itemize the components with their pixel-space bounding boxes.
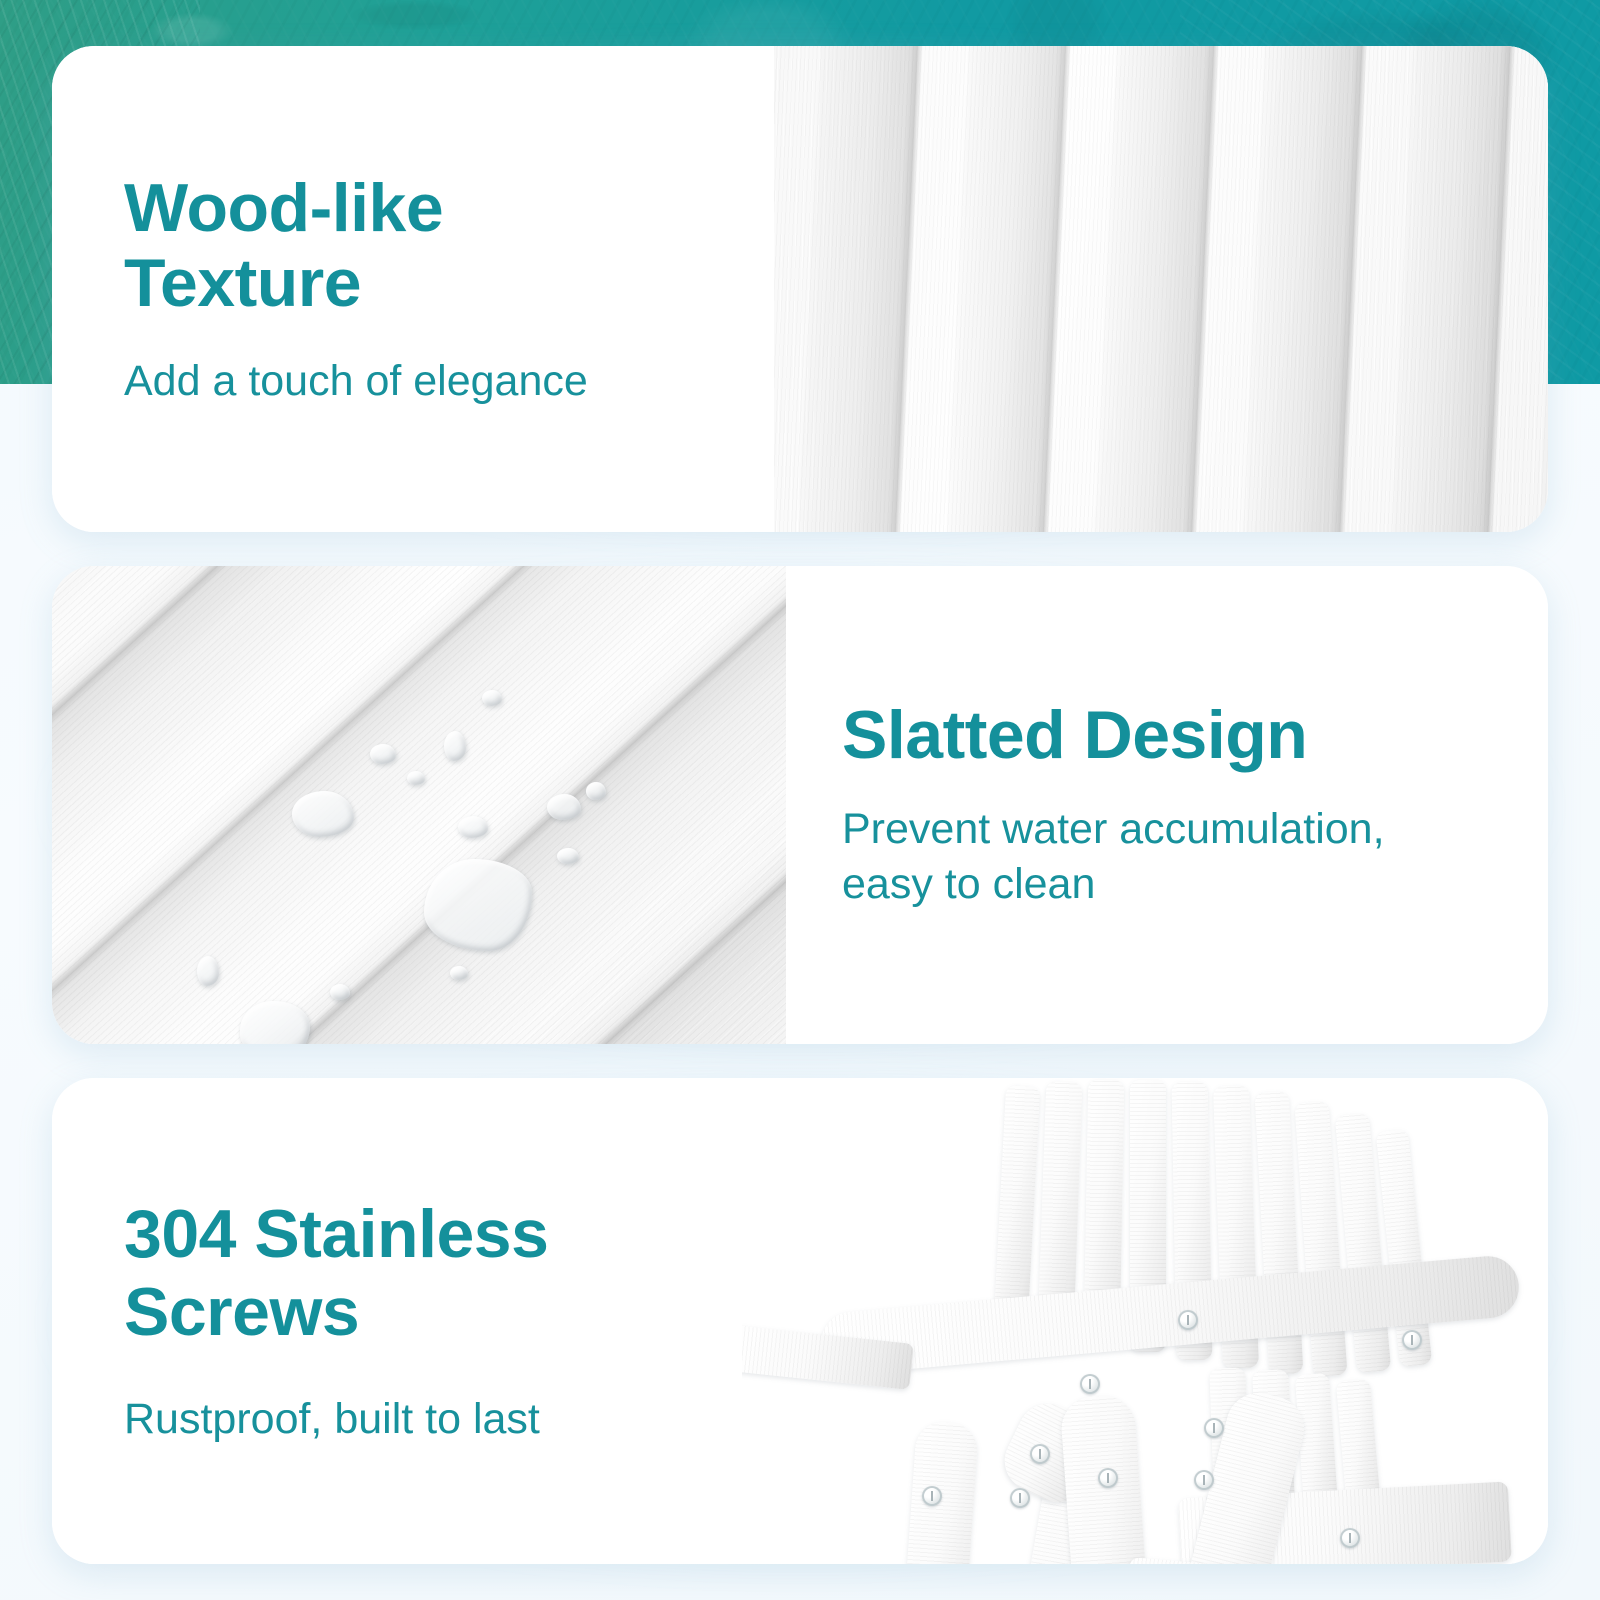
headline-line-1: Wood-like [124, 170, 443, 246]
subline-line-2: easy to clean [842, 860, 1095, 908]
water-droplet-large [424, 859, 532, 951]
water-droplet [557, 848, 579, 864]
card-media-folding-chair [742, 1078, 1548, 1564]
water-droplet [458, 816, 488, 838]
card-subline: Prevent water accumulation,easy to clean [842, 802, 1488, 912]
water-droplet [370, 744, 396, 764]
feature-card-304-stainless-screws[interactable]: 304 StainlessScrews Rustproof, built to … [52, 1078, 1548, 1564]
water-droplet [444, 731, 466, 761]
card-text-pane: Slatted Design Prevent water accumulatio… [786, 566, 1548, 1044]
water-droplet [482, 690, 502, 706]
subline-line-1: Prevent water accumulation, [842, 805, 1385, 853]
water-droplet [407, 771, 425, 785]
card-text-pane: 304 StainlessScrews Rustproof, built to … [52, 1078, 742, 1564]
water-droplet [547, 794, 581, 820]
card-subline: Rustproof, built to last [124, 1393, 702, 1445]
vertical-slats-texture [774, 46, 1548, 532]
screw-icon [1030, 1444, 1050, 1464]
screw-icon [922, 1486, 942, 1506]
card-text-pane: Wood-likeTexture Add a touch of elegance [52, 46, 774, 532]
card-media-diagonal-slats [52, 566, 786, 1044]
screw-icon [1010, 1488, 1030, 1508]
diagonal-slats-texture [52, 566, 786, 1044]
card-layout: 304 StainlessScrews Rustproof, built to … [52, 1078, 1548, 1564]
screw-icon [1098, 1468, 1118, 1488]
card-layout: Slatted Design Prevent water accumulatio… [52, 566, 1548, 1044]
water-droplet [197, 956, 219, 986]
water-droplet [586, 782, 606, 800]
water-droplet [330, 984, 350, 1000]
card-layout: Wood-likeTexture Add a touch of elegance [52, 46, 1548, 532]
card-subline: Add a touch of elegance [124, 355, 720, 407]
chair-photo [742, 1078, 1548, 1564]
screw-icon [1194, 1470, 1214, 1490]
water-droplet [292, 791, 354, 837]
card-headline: Wood-likeTexture [124, 171, 720, 321]
chair-backrest-slat [994, 1085, 1040, 1322]
water-droplet-large [240, 1001, 310, 1044]
card-headline: 304 StainlessScrews [124, 1196, 702, 1351]
screw-icon [1204, 1418, 1224, 1438]
card-media-vertical-slats [774, 46, 1548, 532]
feature-card-wood-like-texture[interactable]: Wood-likeTexture Add a touch of elegance [52, 46, 1548, 532]
screw-icon [1178, 1310, 1198, 1330]
screw-icon [1080, 1374, 1100, 1394]
feature-card-slatted-design[interactable]: Slatted Design Prevent water accumulatio… [52, 566, 1548, 1044]
headline-line-1: 304 Stainless [124, 1196, 548, 1272]
infographic-page: Wood-likeTexture Add a touch of elegance… [0, 0, 1600, 1600]
headline-line-2: Texture [124, 245, 361, 321]
water-droplet [450, 966, 468, 980]
screw-icon [1402, 1330, 1422, 1350]
headline-line-2: Screws [124, 1274, 359, 1350]
screw-icon [1340, 1528, 1360, 1548]
card-headline: Slatted Design [842, 698, 1488, 773]
